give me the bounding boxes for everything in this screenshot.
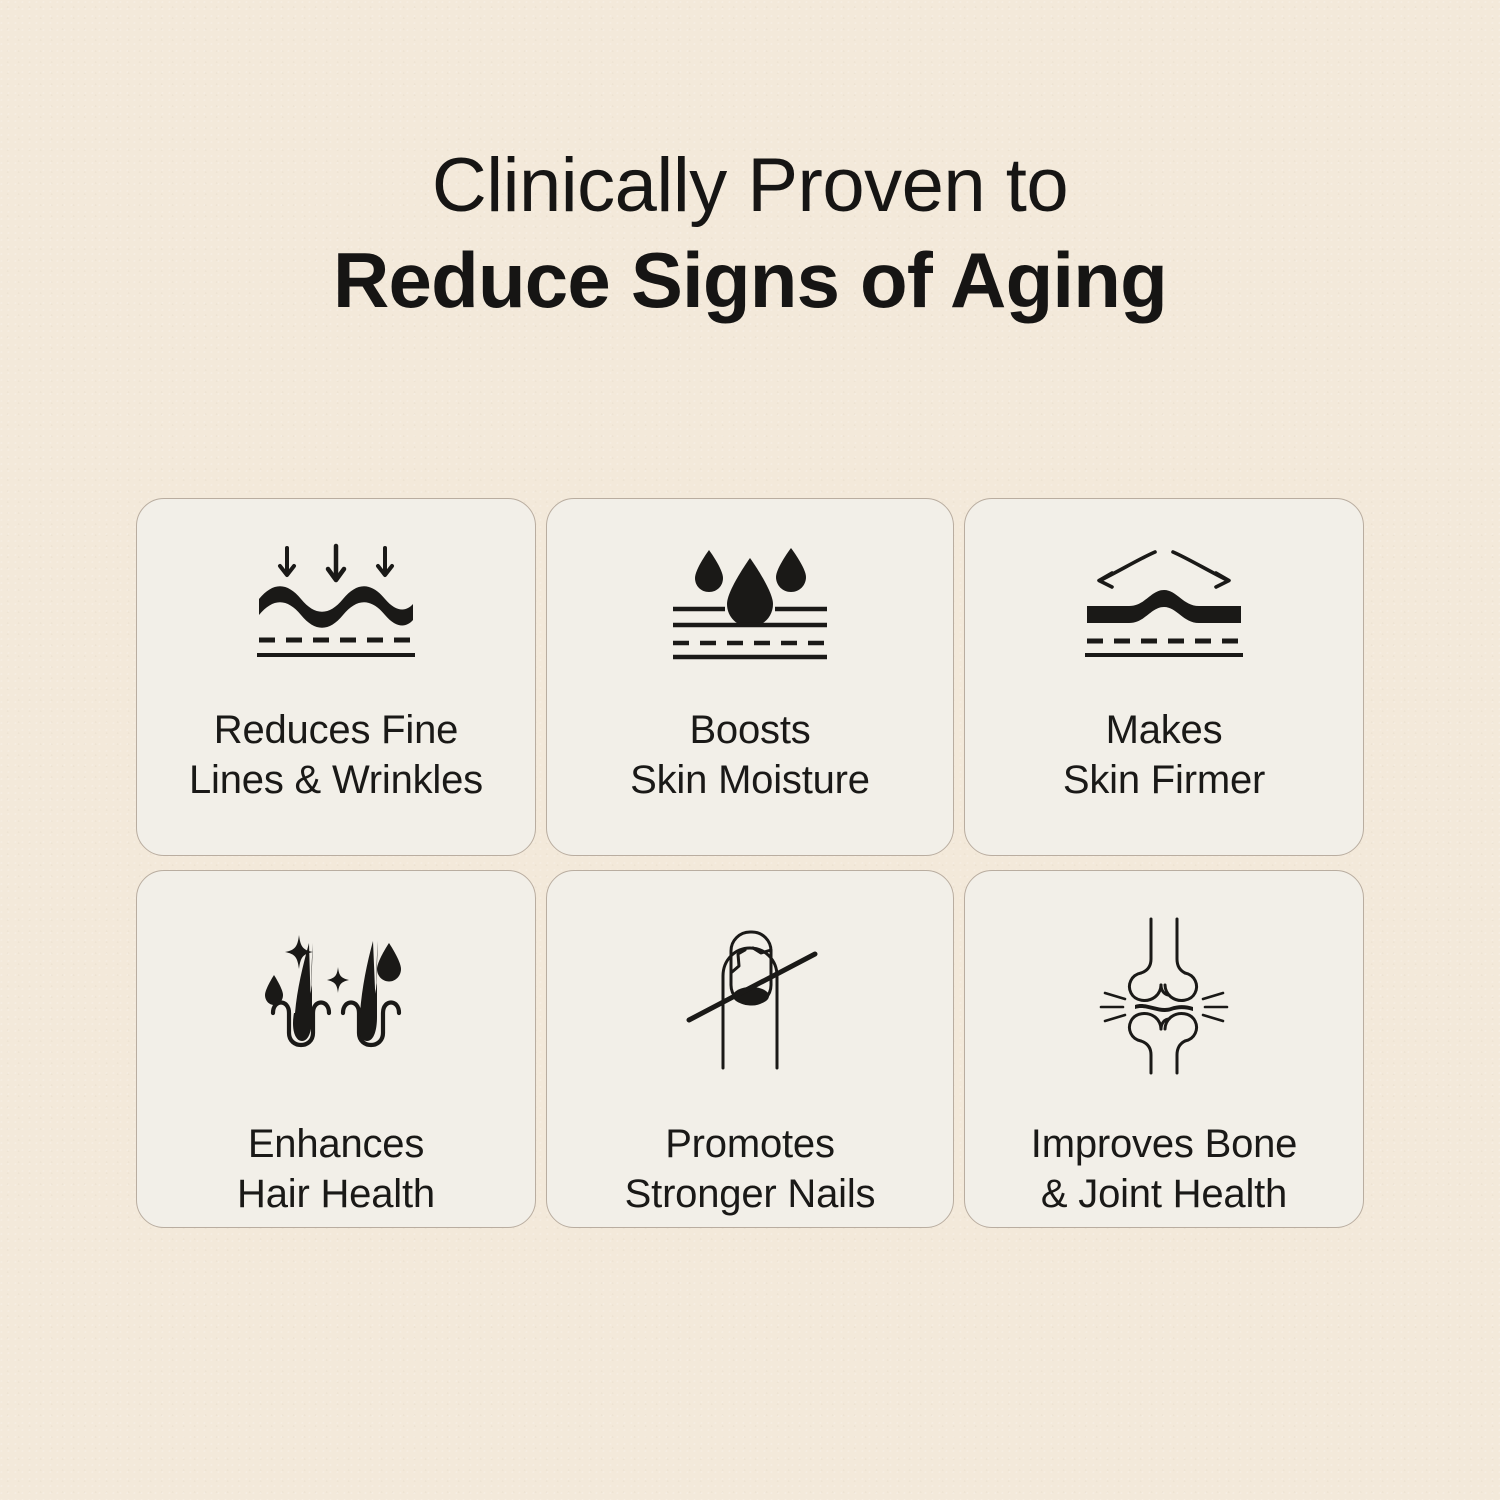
benefit-card-makes-skin-firmer[interactable]: Makes Skin Firmer [964, 498, 1364, 856]
promo-page: Clinically Proven to Reduce Signs of Agi… [0, 0, 1500, 1500]
benefit-card-label: Improves Bone & Joint Health [1019, 1119, 1309, 1219]
skin-firmness-icon [1079, 542, 1249, 662]
benefit-icon-container [547, 871, 953, 1119]
benefit-card-label: Boosts Skin Moisture [618, 705, 882, 805]
benefit-card-label: Enhances Hair Health [225, 1119, 447, 1219]
benefit-icon-container [137, 499, 535, 705]
page-title-line-2: Reduce Signs of Aging [0, 232, 1500, 328]
nail-strength-icon [675, 920, 825, 1070]
benefit-card-label: Promotes Stronger Nails [613, 1119, 888, 1219]
benefit-card-reduces-fine-lines[interactable]: Reduces Fine Lines & Wrinkles [136, 498, 536, 856]
benefit-icon-container [965, 499, 1363, 705]
benefit-icon-container [547, 499, 953, 705]
page-title: Clinically Proven to Reduce Signs of Agi… [0, 140, 1500, 328]
skin-wrinkle-reduction-icon [251, 542, 421, 662]
bone-joint-icon [1089, 915, 1239, 1075]
page-title-line-1: Clinically Proven to [0, 140, 1500, 232]
benefit-card-label: Reduces Fine Lines & Wrinkles [177, 705, 495, 805]
benefit-card-enhances-hair-health[interactable]: Enhances Hair Health [136, 870, 536, 1228]
benefit-icon-container [965, 871, 1363, 1119]
benefit-card-label: Makes Skin Firmer [1051, 705, 1277, 805]
benefit-card-promotes-stronger-nails[interactable]: Promotes Stronger Nails [546, 870, 954, 1228]
benefit-grid: Reduces Fine Lines & Wrinkles [136, 498, 1364, 1228]
benefit-card-improves-bone-joint-health[interactable]: Improves Bone & Joint Health [964, 870, 1364, 1228]
benefit-icon-container [137, 871, 535, 1119]
benefit-card-boosts-skin-moisture[interactable]: Boosts Skin Moisture [546, 498, 954, 856]
skin-moisture-droplets-icon [665, 542, 835, 662]
hair-follicle-icon [261, 925, 411, 1065]
